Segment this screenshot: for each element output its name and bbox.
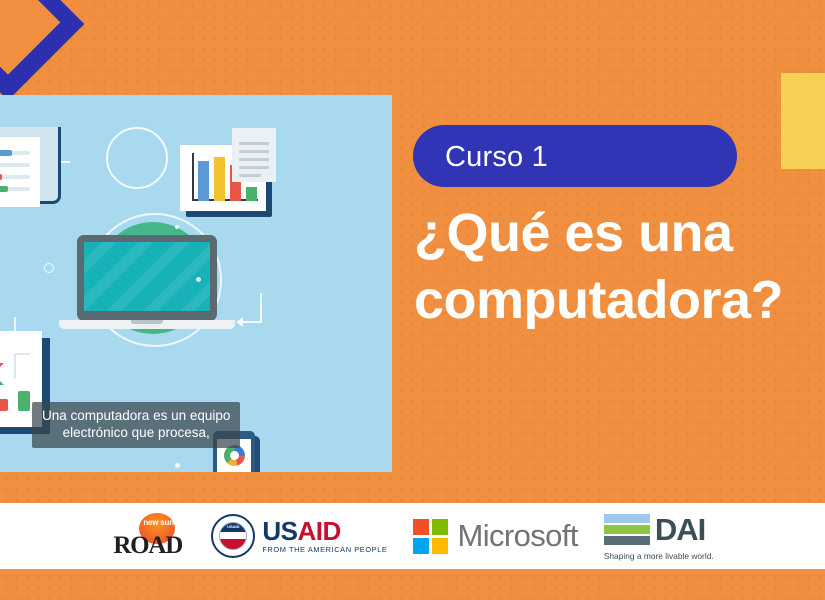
laptop-screen-shine	[84, 242, 210, 311]
elbow-arrow-vertical	[260, 293, 262, 323]
yellow-accent-block	[781, 73, 825, 169]
doc-bar-green	[0, 186, 8, 192]
logo-dai: DAI Shaping a more livable world.	[604, 512, 714, 561]
dai-tagline: Shaping a more livable world.	[604, 551, 714, 561]
decor-dot-b	[175, 225, 179, 229]
usaid-word-us: US	[262, 516, 297, 546]
dai-bars-icon	[604, 514, 650, 545]
dai-bar-green	[604, 525, 650, 534]
usaid-word-aid: AID	[297, 516, 340, 546]
paper-sheet-icon	[232, 128, 276, 182]
chart-bar-yellow	[214, 157, 225, 201]
course-title-slide: Una computadora es un equipo electrónico…	[0, 0, 825, 600]
usaid-seal-icon: USAID	[211, 514, 255, 558]
logo-usaid: USAID USAID FROM THE AMERICAN PEOPLE	[211, 514, 387, 558]
video-illustration-panel[interactable]: Una computadora es un equipo electrónico…	[0, 95, 392, 472]
course-badge[interactable]: Curso 1	[413, 125, 737, 187]
microsoft-wordmark: Microsoft	[457, 518, 577, 554]
logo-new-sun-road: new sun ROAD	[111, 512, 185, 560]
microsoft-tile-green	[432, 519, 448, 535]
course-badge-label: Curso 1	[445, 141, 548, 174]
usaid-seal-inner: USAID	[219, 522, 247, 550]
decor-dot-a	[196, 277, 201, 282]
dai-bar-slate	[604, 536, 650, 545]
decor-dot-c	[175, 463, 180, 468]
microsoft-tile-red	[413, 519, 429, 535]
chart-bar-green	[246, 187, 257, 201]
laptop-screen	[84, 242, 210, 311]
chart-bar-blue	[198, 161, 209, 201]
usaid-tagline: FROM THE AMERICAN PEOPLE	[262, 546, 387, 553]
dai-wordmark: DAI	[655, 512, 705, 548]
microsoft-tile-yellow	[432, 538, 448, 554]
sponsor-logo-bar: new sun ROAD USAID USAID FROM THE AMERIC…	[0, 503, 825, 569]
elbow-arrow-horizontal	[242, 321, 262, 323]
laptop-trackpad-notch	[131, 320, 163, 324]
usaid-wordmark: USAID FROM THE AMERICAN PEOPLE	[262, 518, 387, 553]
microsoft-tile-blue	[413, 538, 429, 554]
doc-bar-red	[0, 174, 2, 180]
microsoft-tiles-icon	[413, 519, 448, 554]
elbow-arrow-head-icon	[236, 317, 243, 327]
chart-y-axis	[192, 153, 194, 201]
dai-top-row: DAI	[604, 512, 705, 548]
donut-chart-hole	[230, 451, 239, 460]
new-sun-road-wordmark: ROAD	[113, 532, 182, 560]
logo-microsoft: Microsoft	[413, 518, 577, 554]
decor-line-a	[14, 317, 16, 331]
page-title: ¿Qué es una computadora?	[414, 200, 825, 334]
video-caption: Una computadora es un equipo electrónico…	[32, 402, 240, 448]
legend-square-red	[0, 399, 8, 411]
usaid-seal-label: USAID	[220, 524, 246, 529]
new-sun-road-small-text: new sun	[143, 518, 174, 527]
document-card-left	[0, 137, 40, 207]
decor-ring-small	[44, 263, 54, 273]
caption-line-2: electrónico que procesa,	[42, 424, 230, 441]
legend-square-green	[18, 391, 30, 411]
dai-bar-lightblue	[604, 514, 650, 523]
caption-line-1: Una computadora es un equipo	[42, 407, 230, 424]
decorative-ring-outline	[106, 127, 168, 189]
doc-bar-blue	[0, 150, 12, 156]
